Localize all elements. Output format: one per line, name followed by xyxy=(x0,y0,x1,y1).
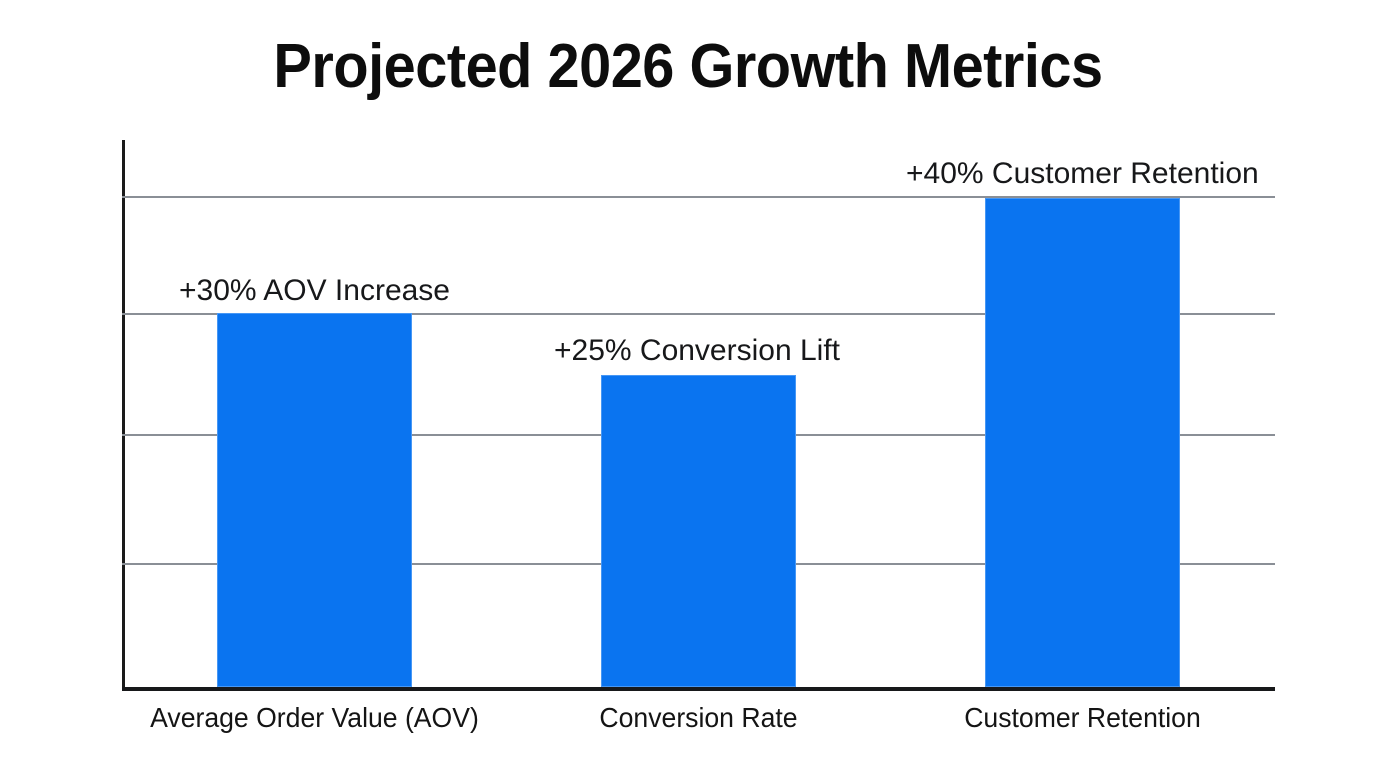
chart-title: Projected 2026 Growth Metrics xyxy=(48,28,1328,106)
category-label-customer-retention: Customer Retention xyxy=(898,700,1268,736)
bar-customer-retention[interactable] xyxy=(985,198,1180,687)
x-axis-line xyxy=(122,687,1275,691)
bar-average-order-value[interactable] xyxy=(217,313,412,687)
bar-value-label-conversion-rate: +25% Conversion Lift xyxy=(554,333,840,369)
category-label-conversion-rate: Conversion Rate xyxy=(514,700,884,736)
plot-area xyxy=(122,140,1275,687)
bar-conversion-rate[interactable] xyxy=(601,375,796,687)
bar-value-label-average-order-value: +30% AOV Increase xyxy=(179,273,450,309)
bar-value-label-customer-retention: +40% Customer Retention xyxy=(906,156,1259,192)
y-axis-line xyxy=(122,140,125,687)
bar-chart: Projected 2026 Growth Metrics +30% AOV I… xyxy=(0,0,1376,768)
category-label-average-order-value: Average Order Value (AOV) xyxy=(130,700,500,736)
